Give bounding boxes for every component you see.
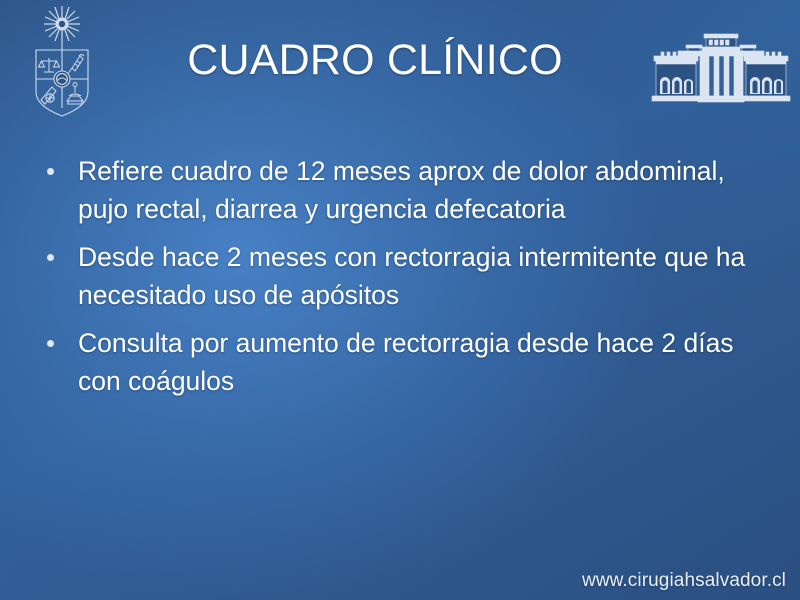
bullet-dot-icon bbox=[47, 254, 54, 261]
bullet-list: Refiere cuadro de 12 meses aprox de dolo… bbox=[40, 152, 752, 400]
presentation-slide: CUADRO CLÍNICO Refiere cuadro de 12 mese… bbox=[0, 0, 800, 600]
bullet-text: Refiere cuadro de 12 meses aprox de dolo… bbox=[78, 152, 752, 228]
footer-website-url: www.cirugiahsalvador.cl bbox=[582, 570, 786, 592]
bullet-dot-icon bbox=[47, 168, 54, 175]
bullet-text: Desde hace 2 meses con rectorragia inter… bbox=[78, 238, 752, 314]
list-item: Consulta por aumento de rectorragia desd… bbox=[40, 324, 752, 400]
university-crest-logo bbox=[22, 4, 102, 120]
hospital-building-logo bbox=[648, 30, 794, 110]
bullet-text: Consulta por aumento de rectorragia desd… bbox=[78, 324, 752, 400]
page-title: CUADRO CLÍNICO bbox=[110, 36, 640, 84]
list-item: Desde hace 2 meses con rectorragia inter… bbox=[40, 238, 752, 314]
list-item: Refiere cuadro de 12 meses aprox de dolo… bbox=[40, 152, 752, 228]
bullet-dot-icon bbox=[47, 340, 54, 347]
